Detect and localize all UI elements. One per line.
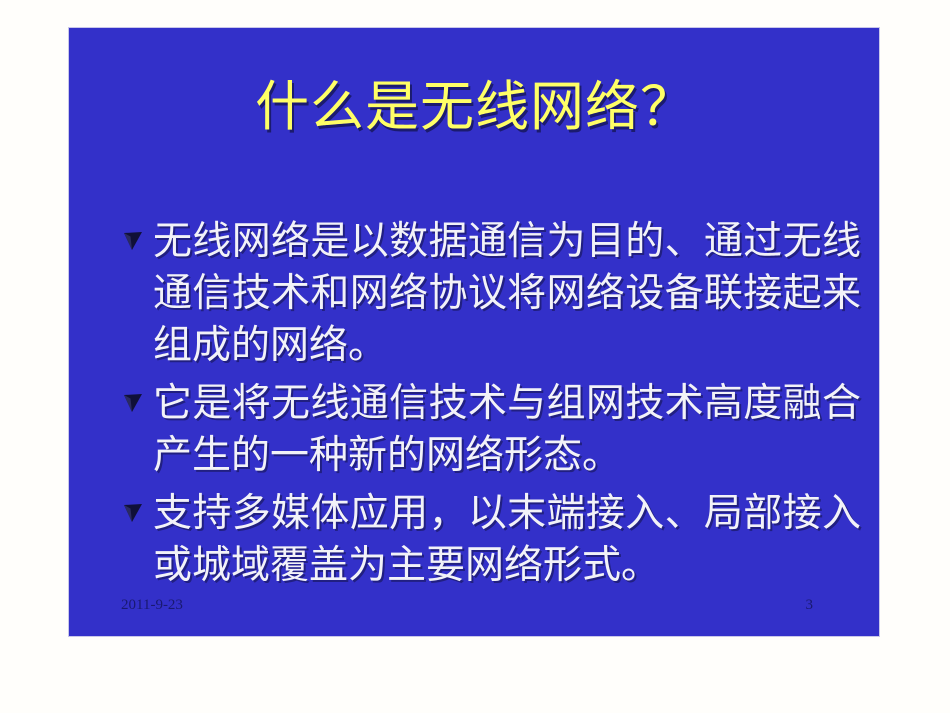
list-item: 支持多媒体应用，以末端接入、局部接入或城域覆盖为主要网络形式。 (121, 488, 861, 592)
footer-page-number: 3 (806, 596, 814, 614)
down-triangle-bullet-icon (121, 391, 145, 415)
slide-title: 什么是无线网络？ (69, 76, 880, 138)
slide-canvas: 什么是无线网络？ 无线网络是以数据通信为目的、通过无线通信技术和网络协议将网络设… (68, 27, 880, 637)
presentation-page: 什么是无线网络？ 无线网络是以数据通信为目的、通过无线通信技术和网络协议将网络设… (0, 0, 950, 713)
footer-date: 2011-9-23 (121, 596, 183, 614)
list-item-text: 无线网络是以数据通信为目的、通过无线通信技术和网络协议将网络设备联接起来组成的网… (153, 216, 861, 372)
list-item-text: 支持多媒体应用，以末端接入、局部接入或城域覆盖为主要网络形式。 (153, 488, 861, 592)
list-item: 它是将无线通信技术与组网技术高度融合产生的一种新的网络形态。 (121, 378, 861, 482)
down-triangle-bullet-icon (121, 229, 145, 253)
list-item: 无线网络是以数据通信为目的、通过无线通信技术和网络协议将网络设备联接起来组成的网… (121, 216, 861, 372)
slide-title-text: 什么是无线网络？ (255, 76, 695, 138)
slide-body: 无线网络是以数据通信为目的、通过无线通信技术和网络协议将网络设备联接起来组成的网… (121, 216, 861, 598)
down-triangle-bullet-icon (121, 501, 145, 525)
list-item-text: 它是将无线通信技术与组网技术高度融合产生的一种新的网络形态。 (153, 378, 861, 482)
